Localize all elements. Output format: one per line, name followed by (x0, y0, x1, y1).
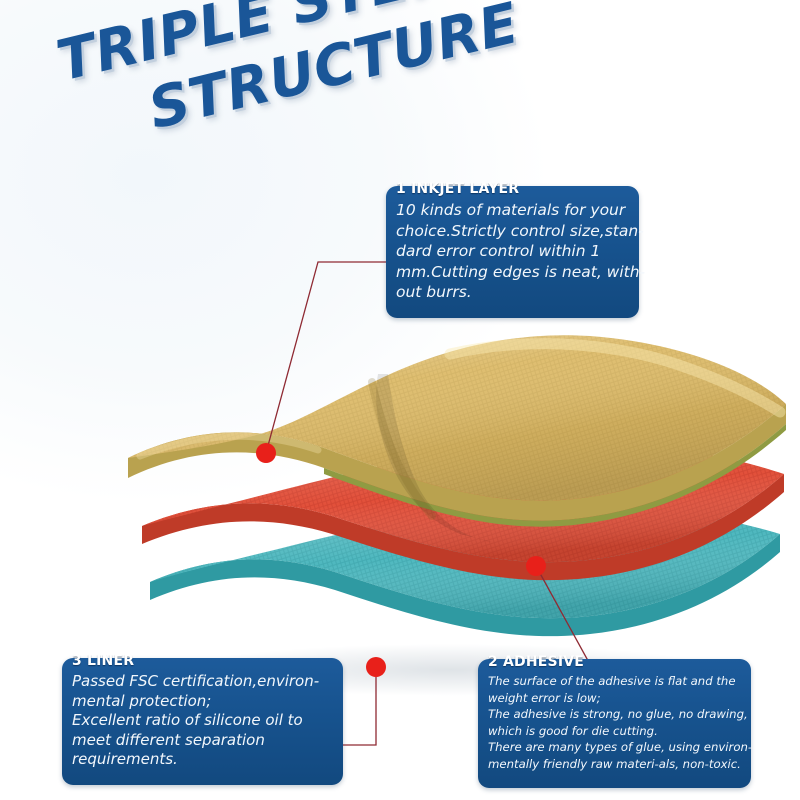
callout-liner-line-4: meet different separation (72, 731, 333, 751)
page-title: TRIPLE STEREO STRUCTURE (52, 0, 538, 157)
callout-adhesive-body: The surface of the adhesive is flat and … (488, 673, 741, 773)
callout-adhesive-heading: 2 ADHESIVE (488, 654, 741, 670)
callout-inkjet-body: 10 kinds of materials for your choice.St… (396, 200, 629, 303)
callout-adhesive-line-1: The surface of the adhesive is flat and … (488, 673, 741, 690)
callout-inkjet-line-5: out burrs. (396, 282, 629, 303)
callout-liner-line-2: mental protection; (72, 692, 333, 712)
callout-adhesive-line-3: The adhesive is strong, no glue, no draw… (488, 706, 741, 723)
callout-inkjet-layer[interactable]: 1 INKJET LAYER 10 kinds of materials for… (386, 186, 639, 318)
title-line-2: STRUCTURE (144, 0, 538, 138)
callout-inkjet-heading: 1 INKJET LAYER (396, 181, 629, 197)
title-line-1: TRIPLE STEREO (52, 0, 522, 90)
callout-inkjet-line-1: 10 kinds of materials for your (396, 200, 629, 221)
callout-liner-line-1: Passed FSC certification,environ- (72, 672, 333, 692)
infographic-canvas: TRIPLE STEREO STRUCTURE (0, 0, 800, 800)
callout-adhesive-layer[interactable]: 2 ADHESIVE The surface of the adhesive i… (478, 659, 751, 788)
callout-liner-line-3: Excellent ratio of silicone oil to (72, 711, 333, 731)
layered-material-illustration (120, 320, 800, 700)
callout-adhesive-line-4: which is good for die cutting. (488, 723, 741, 740)
callout-adhesive-line-6: mentally friendly raw materi-als, non-to… (488, 756, 741, 773)
callout-liner-line-5: requirements. (72, 750, 333, 770)
callout-liner-heading: 3 LINER (72, 653, 333, 669)
callout-inkjet-line-2: choice.Strictly control size,stan- (396, 221, 629, 242)
callout-liner-body: Passed FSC certification,environ- mental… (72, 672, 333, 770)
callout-liner-layer[interactable]: 3 LINER Passed FSC certification,environ… (62, 658, 343, 785)
callout-inkjet-line-4: mm.Cutting edges is neat, with- (396, 262, 629, 283)
callout-adhesive-line-2: weight error is low; (488, 690, 741, 707)
callout-adhesive-line-5: There are many types of glue, using envi… (488, 739, 741, 756)
callout-inkjet-line-3: dard error control within 1 (396, 241, 629, 262)
